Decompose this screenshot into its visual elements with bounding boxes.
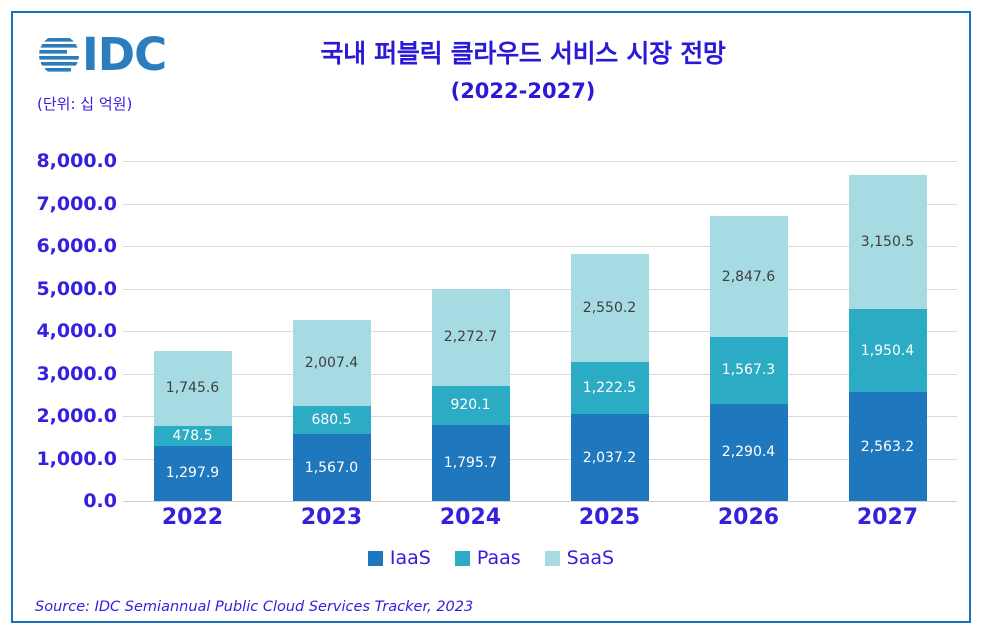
legend-label: Paas: [477, 547, 521, 569]
bar-column-2027[interactable]: 3,150.51,950.42,563.2: [818, 161, 957, 501]
bar-segment-paas[interactable]: 680.5: [293, 406, 371, 435]
y-axis-tick: 2,000.0: [27, 405, 117, 427]
bar-segment-paas[interactable]: 920.1: [432, 386, 510, 425]
bar-value-label: 920.1: [450, 397, 490, 413]
bar-segment-saas[interactable]: 2,272.7: [432, 289, 510, 386]
y-axis-tick: 3,000.0: [27, 363, 117, 385]
legend-item-iaas[interactable]: IaaS: [368, 547, 431, 569]
y-axis: 8,000.07,000.06,000.05,000.04,000.03,000…: [27, 161, 123, 501]
x-axis-tick-2025: 2025: [540, 505, 679, 530]
chart-plot-wrapper: 8,000.07,000.06,000.05,000.04,000.03,000…: [27, 161, 957, 511]
bar-value-label: 1,795.7: [444, 455, 497, 471]
bar-segment-iaas[interactable]: 2,037.2: [571, 414, 649, 501]
bar-segment-iaas[interactable]: 1,297.9: [154, 446, 232, 501]
bar-column-2022[interactable]: 1,745.6478.51,297.9: [123, 161, 262, 501]
bar-segment-paas[interactable]: 478.5: [154, 426, 232, 446]
bar-value-label: 1,745.6: [166, 380, 219, 396]
x-axis: 202220232024202520262027: [123, 505, 957, 530]
idc-wordmark: IDC: [82, 33, 166, 77]
legend-item-saas[interactable]: SaaS: [545, 547, 614, 569]
bar-segment-iaas[interactable]: 2,290.4: [710, 404, 788, 501]
stacked-bar[interactable]: 2,007.4680.51,567.0: [293, 320, 371, 501]
stacked-bar[interactable]: 2,550.21,222.52,037.2: [571, 254, 649, 501]
x-axis-tick-2026: 2026: [679, 505, 818, 530]
bar-segment-iaas[interactable]: 1,567.0: [293, 434, 371, 501]
legend-label: IaaS: [390, 547, 431, 569]
legend-swatch-icon: [545, 551, 560, 566]
chart-frame: IDC (단위: 십 억원) 국내 퍼블릭 클라우드 서비스 시장 전망 (20…: [11, 11, 971, 623]
stacked-bar[interactable]: 1,745.6478.51,297.9: [154, 351, 232, 501]
legend-label: SaaS: [567, 547, 614, 569]
bar-segment-iaas[interactable]: 2,563.2: [849, 392, 927, 501]
y-axis-tick: 0.0: [27, 490, 117, 512]
legend-item-paas[interactable]: Paas: [455, 547, 521, 569]
title-block: 국내 퍼블릭 클라우드 서비스 시장 전망 (2022-2027): [243, 37, 803, 103]
plot-area: 1,745.6478.51,297.92,007.4680.51,567.02,…: [123, 161, 957, 501]
stacked-bar[interactable]: 3,150.51,950.42,563.2: [849, 175, 927, 501]
axis-baseline: [123, 501, 957, 502]
legend-swatch-icon: [455, 551, 470, 566]
bar-value-label: 2,550.2: [583, 300, 636, 316]
bar-column-2023[interactable]: 2,007.4680.51,567.0: [262, 161, 401, 501]
y-axis-tick: 5,000.0: [27, 278, 117, 300]
bar-value-label: 1,222.5: [583, 380, 636, 396]
page-title: 국내 퍼블릭 클라우드 서비스 시장 전망: [243, 37, 803, 71]
y-axis-tick: 6,000.0: [27, 235, 117, 257]
idc-logo: IDC: [27, 31, 277, 79]
bar-value-label: 2,037.2: [583, 450, 636, 466]
bar-segment-paas[interactable]: 1,567.3: [710, 337, 788, 404]
bar-segment-saas[interactable]: 2,007.4: [293, 320, 371, 405]
idc-globe-icon: [37, 33, 81, 77]
y-axis-tick: 4,000.0: [27, 320, 117, 342]
stacked-bar[interactable]: 2,847.61,567.32,290.4: [710, 216, 788, 501]
x-axis-tick-2023: 2023: [262, 505, 401, 530]
bar-segment-saas[interactable]: 2,550.2: [571, 254, 649, 362]
bar-value-label: 478.5: [172, 428, 212, 444]
y-axis-tick: 8,000.0: [27, 150, 117, 172]
bar-value-label: 2,272.7: [444, 329, 497, 345]
bar-value-label: 1,297.9: [166, 465, 219, 481]
bar-value-label: 2,563.2: [861, 439, 914, 455]
bar-value-label: 2,847.6: [722, 269, 775, 285]
bar-group: 1,745.6478.51,297.92,007.4680.51,567.02,…: [123, 161, 957, 501]
bar-segment-saas[interactable]: 2,847.6: [710, 216, 788, 337]
x-axis-tick-2022: 2022: [123, 505, 262, 530]
y-axis-tick: 1,000.0: [27, 448, 117, 470]
page-subtitle: (2022-2027): [243, 79, 803, 103]
x-axis-tick-2024: 2024: [401, 505, 540, 530]
logo-block: IDC (단위: 십 억원): [27, 31, 277, 136]
bar-value-label: 3,150.5: [861, 234, 914, 250]
bar-segment-paas[interactable]: 1,222.5: [571, 362, 649, 414]
stacked-bar[interactable]: 2,272.7920.11,795.7: [432, 289, 510, 501]
bar-column-2024[interactable]: 2,272.7920.11,795.7: [401, 161, 540, 501]
bar-segment-saas[interactable]: 3,150.5: [849, 175, 927, 309]
bar-value-label: 1,567.0: [305, 460, 358, 476]
legend-swatch-icon: [368, 551, 383, 566]
bar-segment-paas[interactable]: 1,950.4: [849, 309, 927, 392]
bar-value-label: 2,007.4: [305, 355, 358, 371]
bar-value-label: 680.5: [311, 412, 351, 428]
bar-segment-saas[interactable]: 1,745.6: [154, 351, 232, 425]
bar-segment-iaas[interactable]: 1,795.7: [432, 425, 510, 501]
bar-value-label: 1,950.4: [861, 343, 914, 359]
bar-value-label: 2,290.4: [722, 444, 775, 460]
bar-column-2026[interactable]: 2,847.61,567.32,290.4: [679, 161, 818, 501]
chart-legend: IaaSPaasSaaS: [13, 547, 969, 569]
bar-value-label: 1,567.3: [722, 362, 775, 378]
y-axis-tick: 7,000.0: [27, 193, 117, 215]
bar-column-2025[interactable]: 2,550.21,222.52,037.2: [540, 161, 679, 501]
unit-note: (단위: 십 억원): [27, 93, 277, 114]
x-axis-tick-2027: 2027: [818, 505, 957, 530]
source-note: Source: IDC Semiannual Public Cloud Serv…: [35, 599, 473, 615]
